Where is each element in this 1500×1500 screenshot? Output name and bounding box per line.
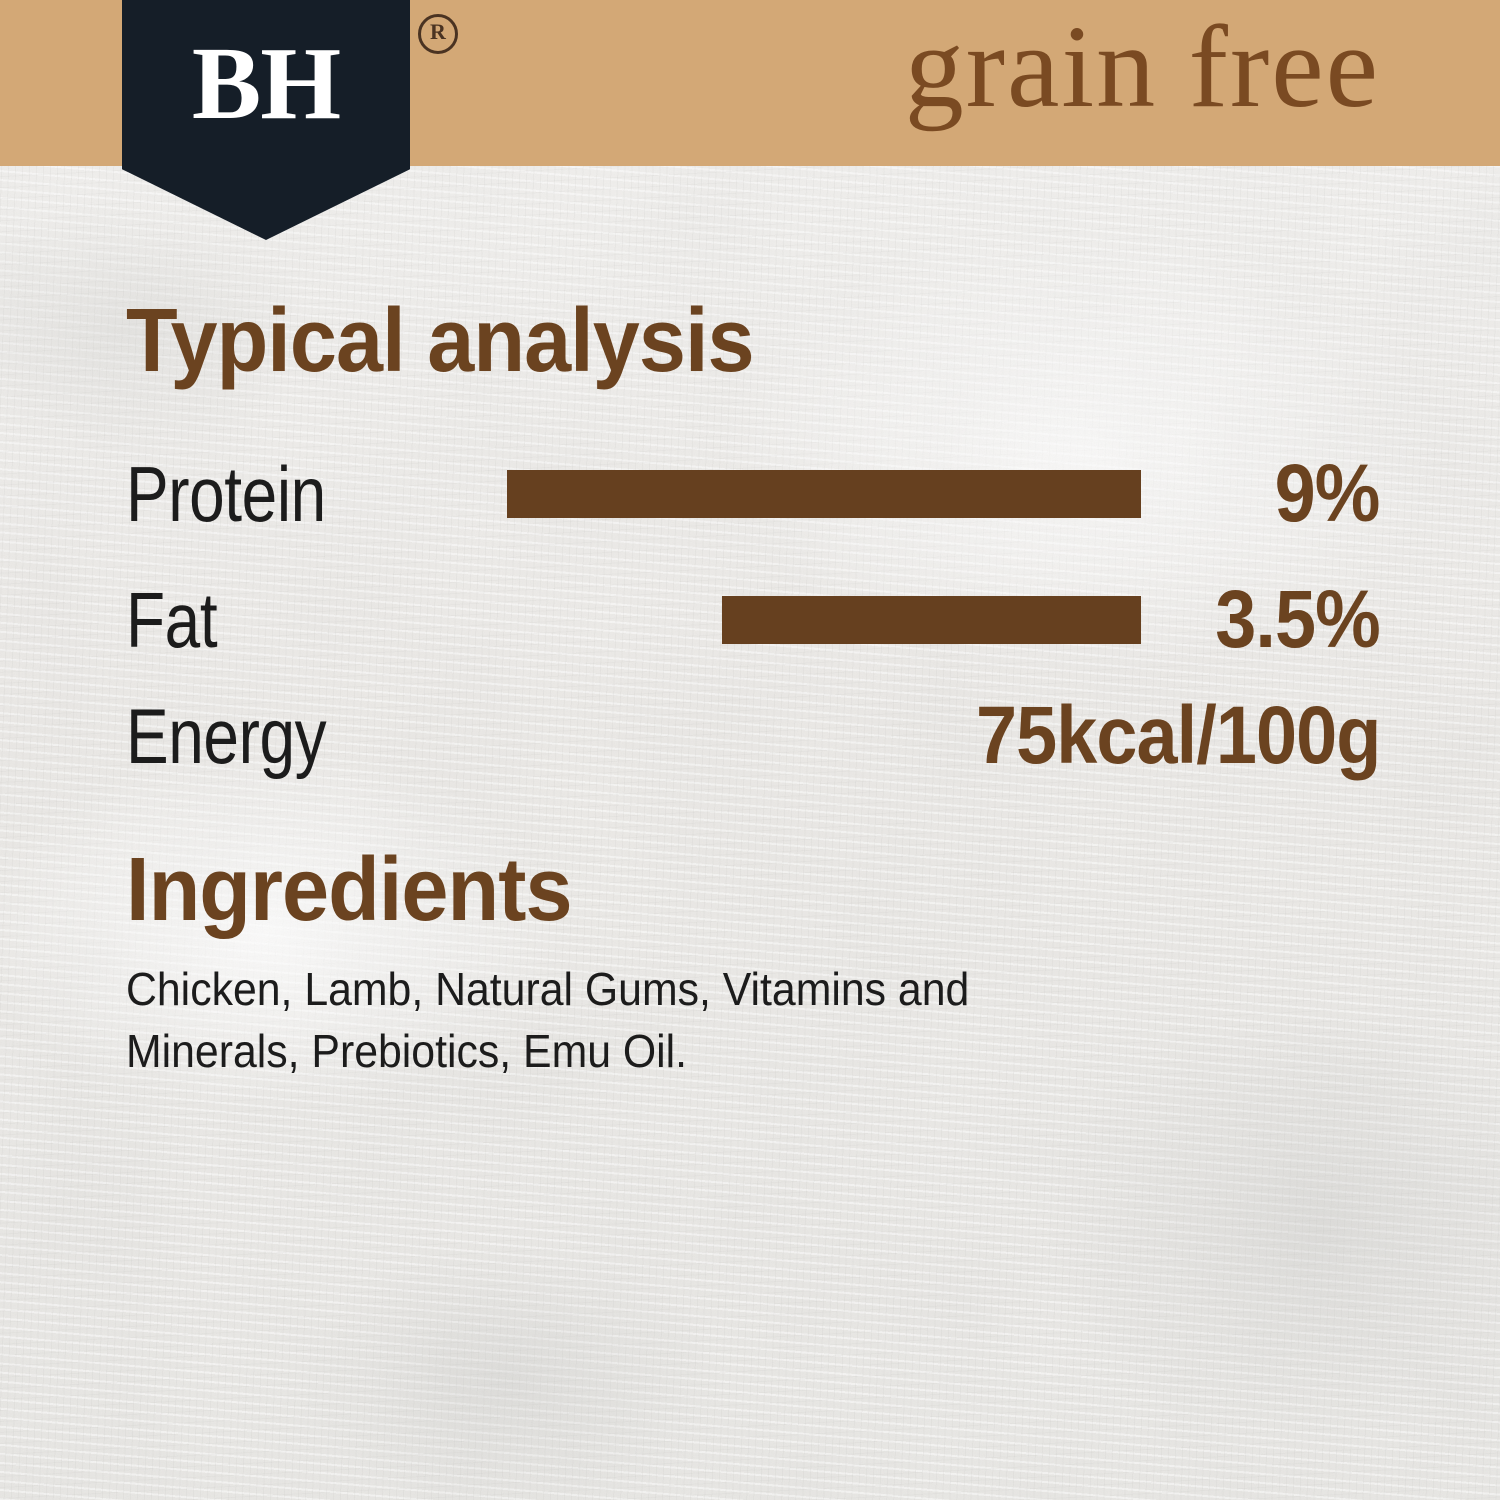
analysis-row-protein: Protein 9% xyxy=(126,446,1380,542)
typical-analysis-heading: Typical analysis xyxy=(126,296,754,386)
analysis-bar-fat xyxy=(722,596,1141,644)
registered-trademark-icon: R xyxy=(418,14,458,54)
analysis-row-energy: Energy 75kcal/100g xyxy=(126,688,1380,784)
ingredients-heading: Ingredients xyxy=(126,845,572,935)
analysis-value-energy: 75kcal/100g xyxy=(975,688,1380,784)
ingredients-list-text: Chicken, Lamb, Natural Gums, Vitamins an… xyxy=(126,958,1140,1082)
analysis-value-protein: 9% xyxy=(1275,446,1380,542)
analysis-label-fat: Fat xyxy=(126,572,217,668)
brand-monogram: BH xyxy=(122,32,410,136)
analysis-value-fat: 3.5% xyxy=(1215,572,1380,668)
analysis-bar-protein xyxy=(507,470,1141,518)
analysis-label-energy: Energy xyxy=(126,688,326,784)
analysis-row-fat: Fat 3.5% xyxy=(126,572,1380,668)
analysis-label-protein: Protein xyxy=(126,446,326,542)
label-content: Typical analysis Protein 9% Fat 3.5% Ene… xyxy=(0,0,1500,1500)
product-label-panel: grain free BH R Typical analysis Protein… xyxy=(0,0,1500,1500)
